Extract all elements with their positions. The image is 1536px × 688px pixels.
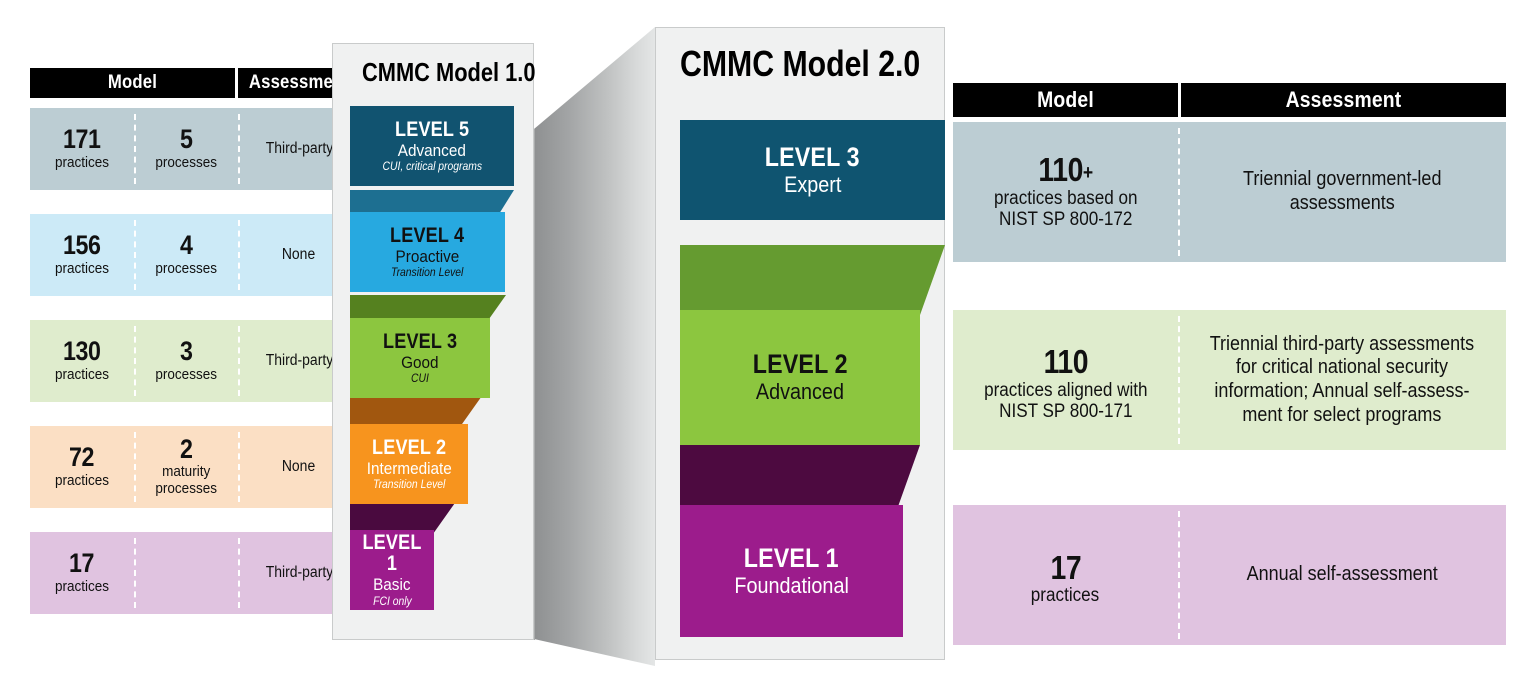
model-1-level-4-note: Transition Level	[391, 267, 463, 279]
left-assessment-value: None	[282, 458, 315, 476]
left-cell-processes	[134, 532, 238, 614]
left-cell-practices: 171 practices	[30, 108, 134, 190]
left-processes-number: 4	[180, 232, 192, 260]
right-model-number-plus: +	[1083, 161, 1093, 184]
left-cell-practices: 17 practices	[30, 532, 134, 614]
right-cell-model: 110+ practices based onNIST SP 800-172	[953, 122, 1178, 262]
left-practices-number: 156	[63, 232, 100, 260]
left-practices-number: 72	[70, 444, 95, 472]
left-cell-practices: 72 practices	[30, 426, 134, 508]
model-2-level-2-desc: Advanced	[756, 380, 844, 403]
right-model-detail: practices aligned withNIST SP 800-171	[984, 380, 1147, 423]
left-processes-label: processes	[155, 261, 217, 278]
model-1-level-3-name: LEVEL 3	[383, 331, 457, 352]
table-row: 110+ practices based onNIST SP 800-172 T…	[953, 122, 1506, 262]
right-cell-assessment: Triennial third-party assessmentsfor cri…	[1178, 310, 1506, 450]
right-table-header: Model Assessment	[953, 83, 1506, 117]
left-practices-number: 171	[63, 126, 100, 154]
model-2-level-3-name: LEVEL 3	[765, 144, 860, 171]
model-1-level-4: LEVEL 4 Proactive Transition Level	[350, 212, 505, 292]
left-cell-processes: 4 processes	[134, 214, 238, 296]
right-cell-model: 17 practices	[953, 505, 1178, 645]
right-model-number: 110+	[1038, 153, 1092, 187]
model-1-level-1-note: FCI only	[373, 596, 412, 608]
right-model-number: 110	[1043, 338, 1088, 379]
left-processes-number: 3	[180, 338, 192, 366]
left-processes-label: processes	[155, 155, 217, 172]
right-model-number-value: 110	[1038, 151, 1083, 188]
model-1-level-1: LEVEL 1 Basic FCI only	[350, 530, 434, 610]
model-2-level-1-name: LEVEL 1	[744, 545, 839, 572]
model-1-level-5-desc: Advanced	[398, 142, 466, 160]
model-1-level-2-note: Transition Level	[373, 479, 445, 491]
table-row: 171 practices 5 processes Third-party	[30, 108, 360, 190]
right-cell-assessment: Triennial government-ledassessments	[1178, 122, 1506, 262]
right-header-model: Model	[967, 83, 1165, 117]
right-model-detail: practices based onNIST SP 800-172	[994, 188, 1138, 231]
table-row: 156 practices 4 processes None	[30, 214, 360, 296]
left-header-model: Model	[42, 68, 222, 98]
infographic-root: Model Assessment 171 practices 5 process…	[0, 0, 1536, 688]
left-header-divider	[235, 68, 238, 98]
left-cell-processes: 3 processes	[134, 320, 238, 402]
left-practices-label: practices	[55, 367, 109, 384]
left-assessment-value: None	[282, 246, 315, 264]
table-row: 72 practices 2 maturityprocesses None	[30, 426, 360, 508]
left-processes-label: processes	[155, 367, 217, 384]
left-processes-label: maturityprocesses	[155, 464, 217, 498]
model-1-level-5: LEVEL 5 Advanced CUI, critical programs	[350, 106, 514, 186]
panel-connector-3d	[520, 14, 670, 674]
left-practices-label: practices	[55, 261, 109, 278]
right-assessment-value: Triennial third-party assessmentsfor cri…	[1210, 333, 1474, 427]
right-cell-assessment: Annual self-assessment	[1178, 505, 1506, 645]
right-cell-model: 110 practices aligned withNIST SP 800-17…	[953, 310, 1178, 450]
model-1-level-3-desc: Good	[401, 354, 438, 372]
left-cell-processes: 5 processes	[134, 108, 238, 190]
left-assessment-value: Third-party	[265, 564, 332, 582]
model-2-level-3-desc: Expert	[784, 173, 841, 196]
model-2-level-1-desc: Foundational	[734, 574, 848, 597]
model-2-level-3: LEVEL 3 Expert	[680, 120, 945, 220]
model-1-level-3: LEVEL 3 Good CUI	[350, 318, 490, 398]
left-practices-number: 17	[70, 550, 95, 578]
model-1-level-5-name: LEVEL 5	[395, 119, 469, 140]
left-cell-practices: 156 practices	[30, 214, 134, 296]
model-1-level-2-name: LEVEL 2	[372, 437, 446, 458]
right-model-number-value: 17	[1050, 549, 1081, 586]
left-practices-label: practices	[55, 579, 109, 596]
right-model-number-value: 110	[1043, 343, 1088, 380]
left-processes-number: 2	[180, 436, 192, 464]
left-practices-label: practices	[55, 155, 109, 172]
model-1-level-4-name: LEVEL 4	[390, 225, 464, 246]
left-processes-number: 5	[180, 126, 192, 154]
model-1-level-4-desc: Proactive	[396, 248, 460, 266]
model-1-level-2-desc: Intermediate	[366, 460, 451, 478]
model-2-level-2-name: LEVEL 2	[752, 351, 847, 378]
model-1-level-2: LEVEL 2 Intermediate Transition Level	[350, 424, 468, 504]
left-assessment-value: Third-party	[265, 140, 332, 158]
table-row: 130 practices 3 processes Third-party	[30, 320, 360, 402]
model-1-level-1-name: LEVEL 1	[356, 532, 428, 574]
right-model-detail: practices	[1031, 585, 1099, 606]
model-1-level-5-note: CUI, critical programs	[382, 161, 482, 173]
model-2-level-2: LEVEL 2 Advanced	[680, 310, 920, 445]
right-assessment-value: Annual self-assessment	[1246, 563, 1437, 587]
right-assessment-value: Triennial government-ledassessments	[1243, 168, 1441, 215]
table-row: 110 practices aligned withNIST SP 800-17…	[953, 310, 1506, 450]
table-row: 17 practices Annual self-assessment	[953, 505, 1506, 645]
left-cell-practices: 130 practices	[30, 320, 134, 402]
right-header-assessment: Assessment	[1201, 83, 1487, 117]
table-row: 17 practices Third-party	[30, 532, 360, 614]
right-header-divider	[1178, 83, 1181, 117]
model-1-level-1-desc: Basic	[373, 576, 410, 594]
right-model-number: 17	[1050, 544, 1081, 585]
left-practices-label: practices	[55, 473, 109, 490]
model-2-level-1: LEVEL 1 Foundational	[680, 505, 903, 637]
left-cell-processes: 2 maturityprocesses	[134, 426, 238, 508]
left-assessment-value: Third-party	[265, 352, 332, 370]
left-practices-number: 130	[63, 338, 100, 366]
model-1-level-3-note: CUI	[411, 373, 429, 385]
left-table-header: Model Assessment	[30, 68, 360, 98]
